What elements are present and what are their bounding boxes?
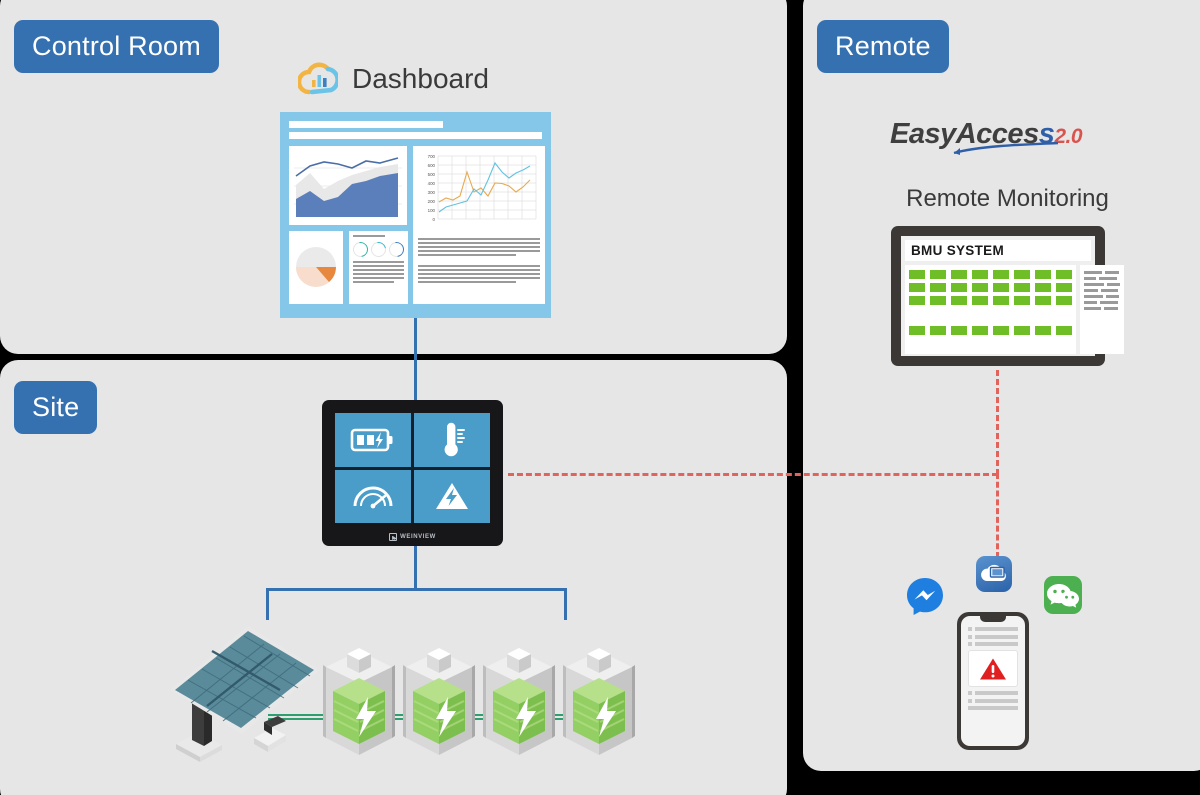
- cloud-monitor-glyph: [976, 556, 1012, 592]
- text-line: [975, 635, 1018, 639]
- gauges-card: [349, 231, 408, 304]
- badge-remote: Remote: [817, 20, 949, 73]
- text-line: [353, 277, 404, 279]
- bmu-cell: [1014, 270, 1030, 279]
- wechat-icon[interactable]: [1044, 576, 1082, 614]
- line-chart: 700 600 500 400 300 200 100 0: [418, 151, 540, 229]
- phone-notch: [980, 616, 1006, 622]
- easyaccess-logo: EasyAccess2.0: [890, 118, 1106, 160]
- battery-rack-icon: [398, 645, 480, 760]
- svg-text:700: 700: [428, 154, 436, 159]
- diagram-canvas: Control Room Site Remote Dashboard: [0, 0, 1200, 795]
- bmu-cell: [1056, 326, 1072, 335]
- hmi-tile-temperature[interactable]: [414, 413, 490, 467]
- bmu-cell: [951, 270, 967, 279]
- bmu-cell: [1035, 296, 1051, 305]
- area-chart: [294, 151, 402, 220]
- list-item: [968, 627, 1018, 631]
- bmu-cell: [1035, 326, 1051, 335]
- svg-text:300: 300: [428, 190, 436, 195]
- wechat-glyph: [1044, 576, 1082, 614]
- bmu-status-list: [1080, 265, 1124, 354]
- svg-text:0: 0: [433, 217, 436, 222]
- text-line: [418, 273, 540, 275]
- bullet-icon: [968, 642, 972, 646]
- svg-text:100: 100: [428, 208, 436, 213]
- battery-rack: [478, 645, 560, 760]
- bmu-cell: [1056, 296, 1072, 305]
- connector-bus-horizontal: [268, 588, 564, 591]
- connector-bus-right-drop: [564, 588, 567, 620]
- svg-text:200: 200: [428, 199, 436, 204]
- bmu-cell-row: [909, 326, 1072, 335]
- battery-rack-icon: [318, 645, 400, 760]
- messenger-glyph: [905, 576, 945, 616]
- connector-cloud-to-bmu-vertical: [996, 370, 999, 475]
- text-line: [975, 691, 1018, 695]
- weinview-logo-icon: [389, 533, 397, 541]
- hmi-tile-high-voltage[interactable]: [414, 470, 490, 524]
- connector-bus-left-drop: [266, 588, 269, 620]
- text-line: [975, 699, 1018, 703]
- bmu-cell-row: [909, 296, 1072, 305]
- warning-triangle-icon: [979, 657, 1007, 681]
- bmu-cell: [909, 270, 925, 279]
- dashboard-window: 700 600 500 400 300 200 100 0: [280, 112, 551, 318]
- hmi-brand-label: WEINVIEW: [400, 534, 436, 540]
- battery-charge-icon: [350, 426, 396, 454]
- text-line: [418, 246, 540, 248]
- bmu-cell: [972, 296, 988, 305]
- high-voltage-icon: [434, 480, 470, 512]
- dashboard-title: Dashboard: [352, 63, 489, 95]
- text-line: [418, 238, 540, 240]
- badge-control-room: Control Room: [14, 20, 219, 73]
- connector-dashboard-to-hmi: [414, 318, 417, 402]
- list-item: [968, 691, 1018, 695]
- bmu-cell: [930, 296, 946, 305]
- battery-rack: [398, 645, 480, 760]
- bullet-icon: [968, 635, 972, 639]
- bmu-cell: [1014, 283, 1030, 292]
- svg-text:600: 600: [428, 163, 436, 168]
- pie-chart-card: [289, 231, 343, 304]
- text-line: [418, 265, 540, 267]
- hmi-tile-gauge[interactable]: [335, 470, 411, 524]
- pie-chart: [293, 235, 339, 299]
- bmu-cell: [1035, 270, 1051, 279]
- text-line: [418, 254, 516, 256]
- hmi-brand: WEINVIEW: [335, 528, 490, 545]
- cloud-chart-icon: [298, 62, 338, 96]
- text-line: [418, 277, 540, 279]
- thermometer-icon: [436, 421, 468, 459]
- bmu-cell: [972, 283, 988, 292]
- text-line: [353, 261, 404, 263]
- battery-rack: [558, 645, 640, 760]
- bmu-cell: [993, 270, 1009, 279]
- remote-monitoring-label: Remote Monitoring: [803, 185, 1200, 213]
- text-line: [968, 706, 1018, 710]
- text-line: [353, 269, 404, 271]
- bmu-cell: [951, 326, 967, 335]
- text-line: [353, 281, 394, 283]
- text-line: [418, 250, 540, 252]
- bmu-cell: [1056, 283, 1072, 292]
- text-line: [975, 627, 1018, 631]
- gauge-icon-1: [350, 239, 371, 260]
- bmu-cell: [909, 296, 925, 305]
- svg-text:500: 500: [428, 172, 436, 177]
- bmu-cell: [1056, 270, 1072, 279]
- bmu-cell: [909, 283, 925, 292]
- hmi-tile-battery[interactable]: [335, 413, 411, 467]
- bmu-cell: [909, 326, 925, 335]
- bullet-icon: [968, 627, 972, 631]
- alert-card[interactable]: [968, 650, 1018, 687]
- bmu-cell: [1014, 296, 1030, 305]
- bmu-cell: [1035, 283, 1051, 292]
- text-line: [418, 281, 516, 283]
- easyaccess-cloud-icon[interactable]: [976, 556, 1012, 592]
- battery-rack-icon: [558, 645, 640, 760]
- bmu-cell: [993, 326, 1009, 335]
- phone-screen[interactable]: [961, 616, 1025, 746]
- window-toolbar: [289, 132, 542, 139]
- battery-rack-icon: [478, 645, 560, 760]
- list-item: [968, 699, 1018, 703]
- svg-text:400: 400: [428, 181, 436, 186]
- gauge-icon-3: [386, 239, 407, 260]
- bmu-cell-grid: [905, 265, 1076, 354]
- line-chart-card: 700 600 500 400 300 200 100 0: [413, 146, 545, 304]
- bmu-cell: [951, 296, 967, 305]
- gauge-icon: [351, 481, 395, 511]
- bmu-cell: [972, 326, 988, 335]
- bmu-cell: [930, 326, 946, 335]
- connector-cloud-to-phone-vertical: [996, 473, 999, 558]
- text-line: [418, 269, 540, 271]
- logo-swoosh-icon: [890, 142, 1106, 156]
- bullet-icon: [968, 691, 972, 695]
- battery-rack: [318, 645, 400, 760]
- gauges-heading-line: [353, 235, 385, 237]
- hmi-panel[interactable]: WEINVIEW: [322, 400, 503, 546]
- gauge-group: [353, 242, 404, 257]
- bmu-cell: [930, 270, 946, 279]
- bmu-cell: [1014, 326, 1030, 335]
- bmu-cell-row: [909, 270, 1072, 279]
- text-line: [975, 642, 1018, 646]
- list-item: [968, 706, 1018, 710]
- bmu-screen[interactable]: BMU SYSTEM: [901, 236, 1095, 356]
- bullet-icon: [968, 699, 972, 703]
- bmu-device: BMU SYSTEM: [891, 226, 1105, 366]
- area-chart-card: [289, 146, 407, 225]
- badge-site: Site: [14, 381, 97, 434]
- connector-hmi-to-cloud-horizontal: [508, 473, 998, 476]
- window-title-bar: [289, 121, 443, 128]
- bmu-cell-row: [909, 283, 1072, 292]
- bmu-screen-title: BMU SYSTEM: [905, 240, 1091, 261]
- solar-panel: [160, 618, 330, 763]
- text-line: [353, 273, 404, 275]
- bmu-cell: [972, 270, 988, 279]
- hmi-screen[interactable]: [335, 413, 490, 523]
- list-item: [968, 635, 1018, 639]
- bmu-cell: [993, 296, 1009, 305]
- mobile-phone[interactable]: [957, 612, 1029, 750]
- bmu-cell: [993, 283, 1009, 292]
- bmu-cell: [951, 283, 967, 292]
- gauge-icon-2: [368, 239, 389, 260]
- text-line: [418, 242, 540, 244]
- list-item: [968, 642, 1018, 646]
- dashboard-header: Dashboard: [298, 62, 489, 96]
- solar-panel-illustration: [160, 618, 330, 763]
- bmu-cell: [930, 283, 946, 292]
- text-line: [353, 265, 404, 267]
- connector-hmi-to-bus: [414, 546, 417, 590]
- messenger-icon[interactable]: [905, 576, 945, 616]
